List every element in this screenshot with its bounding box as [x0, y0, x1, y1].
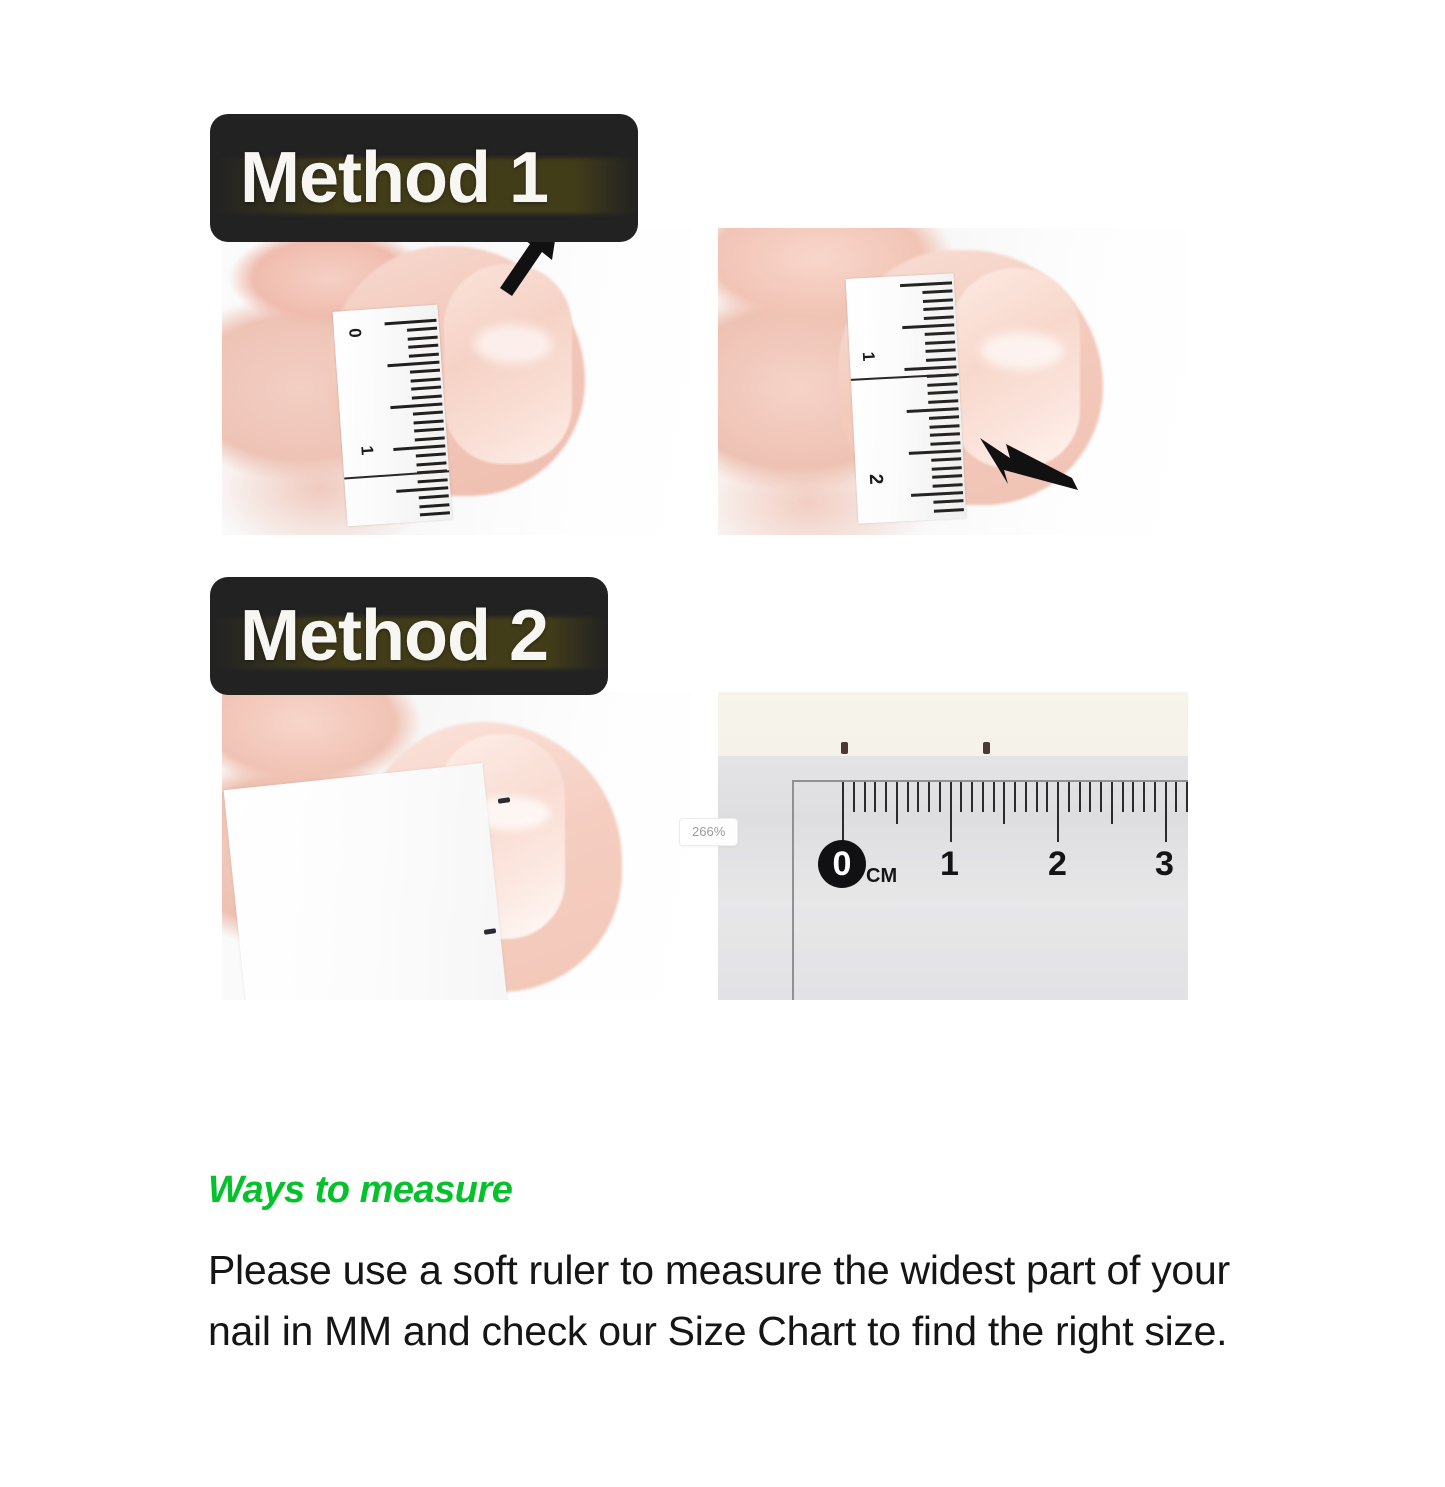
ways-to-measure-heading: Ways to measure — [208, 1168, 512, 1214]
method2-panel-2: 0 CM 1 2 3 — [718, 692, 1188, 1000]
nail-highlight — [980, 332, 1064, 370]
method-1-badge: Method 1 — [210, 114, 638, 242]
tape-number-1: 1 — [358, 445, 376, 456]
pointer-arrow-icon — [490, 230, 560, 312]
method1-panel-2: 1 2 — [718, 228, 1188, 535]
pen-mark-left — [841, 742, 848, 754]
size-guide-page: 0 1 1 2 — [0, 0, 1445, 1487]
ruler-zero-marker: 0 — [818, 840, 866, 888]
ruler-label-1: 1 — [940, 847, 959, 881]
measuring-tape: 1 2 — [846, 273, 967, 523]
method-2-badge: Method 2 — [210, 577, 608, 695]
ruler-tick-marks — [718, 782, 1188, 842]
pen-mark-right — [983, 742, 990, 754]
method-1-label: Method 1 — [240, 142, 548, 214]
ruler-backdrop-band — [718, 692, 1188, 756]
paper-strip — [224, 763, 509, 1000]
nail-highlight — [474, 324, 552, 364]
ways-to-measure-body: Please use a soft ruler to measure the w… — [208, 1240, 1248, 1361]
ruler-label-2: 2 — [1048, 847, 1067, 881]
tape-number-1: 1 — [860, 351, 877, 361]
tape-number-0: 0 — [346, 328, 364, 339]
ruler-label-3: 3 — [1155, 847, 1174, 881]
zoom-level-indicator[interactable]: 266% — [679, 818, 738, 846]
method-2-label: Method 2 — [240, 600, 548, 672]
ruler-unit-label: CM — [866, 866, 897, 886]
tape-number-2: 2 — [866, 473, 886, 485]
pointer-arrow-icon — [976, 428, 1081, 496]
method1-panel-1: 0 1 — [222, 228, 693, 535]
method2-panel-1 — [222, 692, 693, 1000]
measuring-tape: 0 1 — [333, 305, 453, 527]
tape-tick-marks — [846, 273, 967, 523]
